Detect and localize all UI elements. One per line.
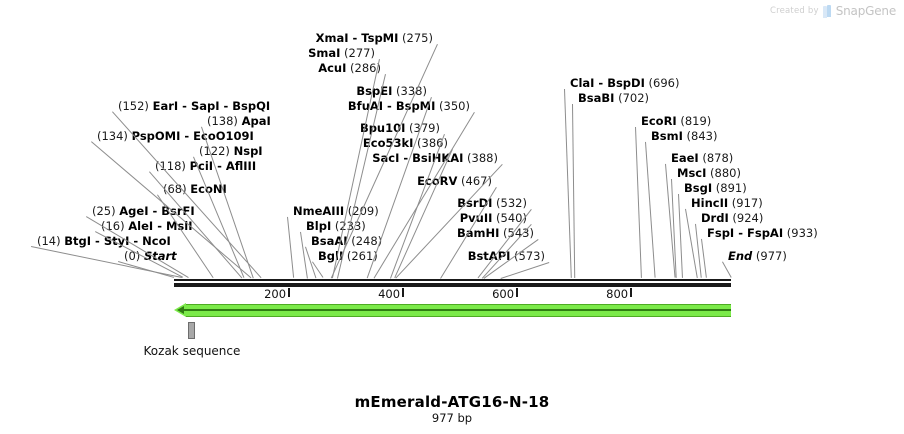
restriction-site-label[interactable]: (68) EcoNI [163, 183, 227, 196]
restriction-site-label[interactable]: End (977) [728, 250, 787, 263]
site-name: EaeI [671, 151, 699, 165]
leader-line [394, 149, 453, 278]
site-position: (275) [398, 31, 433, 45]
leader-line [287, 217, 294, 278]
site-name: EarI - SapI - BspQI [153, 99, 271, 113]
site-name: BsaAI [311, 234, 348, 248]
site-position: (25) [92, 204, 119, 218]
restriction-site-label[interactable]: BsaBI (702) [578, 92, 649, 105]
orf-arrow-head-inner [177, 306, 184, 314]
site-name: AcuI [318, 61, 346, 75]
site-name: End [728, 249, 752, 263]
ruler-tick [288, 288, 290, 297]
restriction-site-label[interactable]: Eco53kI (386) [363, 137, 448, 150]
restriction-site-label[interactable]: AcuI (286) [318, 62, 381, 75]
site-position: (977) [752, 249, 787, 263]
site-name: NmeAIII [293, 204, 344, 218]
site-position: (891) [712, 181, 747, 195]
restriction-site-label[interactable]: ClaI - BspDI (696) [570, 77, 679, 90]
restriction-site-label[interactable]: (134) PspOMI - EcoO109I [97, 130, 254, 143]
site-name: BsaBI [578, 91, 614, 105]
restriction-site-label[interactable]: NmeAIII (209) [293, 205, 379, 218]
restriction-site-label[interactable]: XmaI - TspMI (275) [316, 32, 433, 45]
site-position: (122) [199, 144, 234, 158]
ruler-tick [630, 288, 632, 297]
site-name: ApaI [242, 114, 271, 128]
plasmid-map-canvas: Created by SnapGene XmaI - TspMI (275)Sm… [0, 0, 904, 434]
site-position: (540) [492, 211, 527, 225]
ruler-label: 400 [378, 287, 400, 301]
site-position: (350) [435, 99, 470, 113]
site-name: FspI - FspAI [707, 226, 783, 240]
orf-arrow-spine [183, 309, 731, 311]
restriction-site-label[interactable]: BsgI (891) [684, 182, 747, 195]
site-position: (152) [118, 99, 153, 113]
site-position: (134) [97, 129, 132, 143]
site-name: DrdI [701, 211, 729, 225]
site-name: SmaI [308, 46, 340, 60]
restriction-site-label[interactable]: EaeI (878) [671, 152, 733, 165]
restriction-site-label[interactable]: BsmI (843) [651, 130, 717, 143]
page-title: mEmerald-ATG16-N-18 [0, 393, 904, 411]
snapgene-watermark: Created by SnapGene [770, 4, 896, 18]
site-position: (696) [645, 76, 680, 90]
restriction-site-label[interactable]: EcoRI (819) [641, 115, 711, 128]
site-position: (702) [614, 91, 649, 105]
site-name: MscI [677, 166, 706, 180]
snapgene-logo-icon [823, 5, 832, 17]
site-position: (933) [783, 226, 818, 240]
watermark-created-label: Created by [770, 6, 819, 16]
site-name: NspI [234, 144, 263, 158]
leader-line [645, 142, 656, 278]
ruler-label: 800 [606, 287, 628, 301]
sequence-length: 977 bp [0, 411, 904, 425]
site-name: BsgI [684, 181, 712, 195]
site-position: (819) [677, 114, 712, 128]
restriction-site-label[interactable]: BglI (261) [318, 250, 378, 263]
site-name: BfuAI - BspMI [348, 99, 435, 113]
leader-line [685, 209, 698, 278]
ruler-label: 600 [492, 287, 514, 301]
site-position: (338) [392, 84, 427, 98]
site-position: (277) [340, 46, 375, 60]
site-position: (16) [101, 219, 128, 233]
site-name: BsmI [651, 129, 683, 143]
site-position: (388) [463, 151, 498, 165]
site-position: (880) [706, 166, 741, 180]
site-name: ClaI - BspDI [570, 76, 645, 90]
site-name: BlpI [306, 219, 331, 233]
leader-line [701, 239, 707, 278]
restriction-site-label[interactable]: MscI (880) [677, 167, 741, 180]
ruler-tick [516, 288, 518, 297]
restriction-site-label[interactable]: SmaI (277) [308, 47, 375, 60]
leader-line [722, 262, 732, 278]
site-position: (14) [37, 234, 64, 248]
restriction-site-label[interactable]: (152) EarI - SapI - BspQI [118, 100, 270, 113]
kozak-sequence-label: Kozak sequence [144, 344, 241, 358]
site-position: (138) [207, 114, 242, 128]
restriction-site-label[interactable]: DrdI (924) [701, 212, 763, 225]
watermark-brand-label: SnapGene [836, 4, 896, 18]
restriction-site-label[interactable]: PvuII (540) [460, 212, 527, 225]
site-position: (843) [683, 129, 718, 143]
leader-line [678, 194, 683, 278]
site-position: (532) [492, 196, 527, 210]
leader-line [300, 232, 308, 278]
kozak-sequence-feature[interactable] [188, 322, 195, 339]
site-name: HincII [691, 196, 728, 210]
restriction-site-label[interactable]: (118) PciI - AflIII [155, 160, 256, 173]
backbone-line-top [174, 279, 731, 281]
backbone-line-bottom [174, 283, 731, 287]
site-name: PspOMI - EcoO109I [132, 129, 254, 143]
site-position: (917) [728, 196, 763, 210]
ruler-tick [402, 288, 404, 297]
site-position: (878) [699, 151, 734, 165]
leader-line [501, 262, 550, 279]
restriction-site-label[interactable]: (138) ApaI [207, 115, 271, 128]
site-position: (924) [729, 211, 764, 225]
leader-line [635, 127, 642, 278]
site-name: EcoRI [641, 114, 677, 128]
restriction-site-label[interactable]: HincII (917) [691, 197, 763, 210]
ruler-label: 200 [264, 287, 286, 301]
site-name: XmaI - TspMI [316, 31, 399, 45]
site-name: BspEI [356, 84, 392, 98]
leader-line [572, 104, 575, 278]
leader-line [564, 89, 572, 278]
restriction-site-label[interactable]: FspI - FspAI (933) [707, 227, 818, 240]
